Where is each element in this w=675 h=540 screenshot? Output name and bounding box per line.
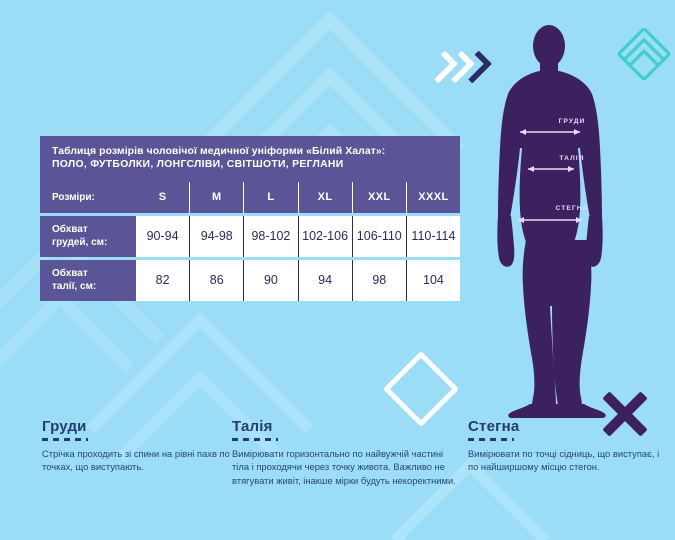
waist-value-m: 86	[189, 260, 243, 301]
size-header-s: S	[136, 182, 189, 213]
row-label-waist-line2: талії, см:	[52, 280, 136, 293]
row-label-chest-line1: Обхват	[52, 223, 136, 236]
size-header-xxl: XXL	[352, 182, 406, 213]
chest-value-xxl: 106-110	[352, 216, 406, 257]
description-hips-heading: Стегна	[468, 418, 668, 435]
description-waist-heading: Талія	[232, 418, 462, 435]
chest-value-xxxl: 110-114	[406, 216, 460, 257]
description-chest-heading: Груди	[42, 418, 232, 435]
row-label-chest: Обхват грудей, см:	[40, 216, 136, 257]
dashed-divider-chest	[42, 438, 88, 441]
description-hips-text: Вимірювати по точці сідниць, що виступає…	[468, 447, 668, 474]
figure-label-chest: ГРУДИ	[512, 118, 632, 125]
table-title-line2: ПОЛО, ФУТБОЛКИ, ЛОНГСЛІВИ, СВІТШОТИ, РЕГ…	[52, 158, 448, 171]
size-header-xxxl: XXXL	[406, 182, 460, 213]
row-label-waist: Обхват талії, см:	[40, 260, 136, 301]
waist-value-xxxl: 104	[406, 260, 460, 301]
male-body-figure: ГРУДИ ТАЛІЯ СТЕГНА	[470, 18, 675, 418]
figure-label-waist: ТАЛІЯ	[512, 155, 632, 162]
dashed-divider-waist	[232, 438, 278, 441]
table-title: Таблиця розмірів чоловічої медичної уніф…	[40, 136, 460, 182]
description-chest: Груди Стрічка проходить зі спини на рівн…	[42, 418, 232, 474]
chest-value-xl: 102-106	[298, 216, 352, 257]
description-waist: Талія Вимірювати горизонтально по найвуж…	[232, 418, 462, 487]
white-diamond-outline-icon	[383, 351, 459, 427]
description-hips: Стегна Вимірювати по точці сідниць, що в…	[468, 418, 668, 474]
dashed-divider-hips	[468, 438, 514, 441]
row-label-chest-line2: грудей, см:	[52, 236, 136, 249]
waist-value-s: 82	[136, 260, 189, 301]
waist-value-xxl: 98	[352, 260, 406, 301]
chest-value-m: 94-98	[189, 216, 243, 257]
figure-label-hips: СТЕГНА	[512, 205, 632, 212]
table-row-waist: Обхват талії, см: 82 86 90 94 98 104	[40, 260, 460, 301]
waist-value-l: 90	[243, 260, 297, 301]
size-table: Таблиця розмірів чоловічої медичної уніф…	[40, 136, 460, 301]
size-header-m: M	[189, 182, 243, 213]
infographic-page: Таблиця розмірів чоловічої медичної уніф…	[0, 0, 675, 540]
size-header-l: L	[243, 182, 297, 213]
waist-value-xl: 94	[298, 260, 352, 301]
chest-value-l: 98-102	[243, 216, 297, 257]
description-waist-text: Вимірювати горизонтально по найвужчій ча…	[232, 447, 462, 487]
size-header-xl: XL	[298, 182, 352, 213]
table-title-line1: Таблиця розмірів чоловічої медичної уніф…	[52, 146, 385, 157]
sizes-label: Розміри:	[40, 182, 136, 213]
chest-value-s: 90-94	[136, 216, 189, 257]
row-label-waist-line1: Обхват	[52, 267, 136, 280]
body-silhouette-icon	[470, 18, 675, 418]
table-header-row: Розміри: S M L XL XXL XXXL	[40, 182, 460, 213]
table-row-chest: Обхват грудей, см: 90-94 94-98 98-102 10…	[40, 216, 460, 257]
description-chest-text: Стрічка проходить зі спини на рівні пахв…	[42, 447, 232, 474]
